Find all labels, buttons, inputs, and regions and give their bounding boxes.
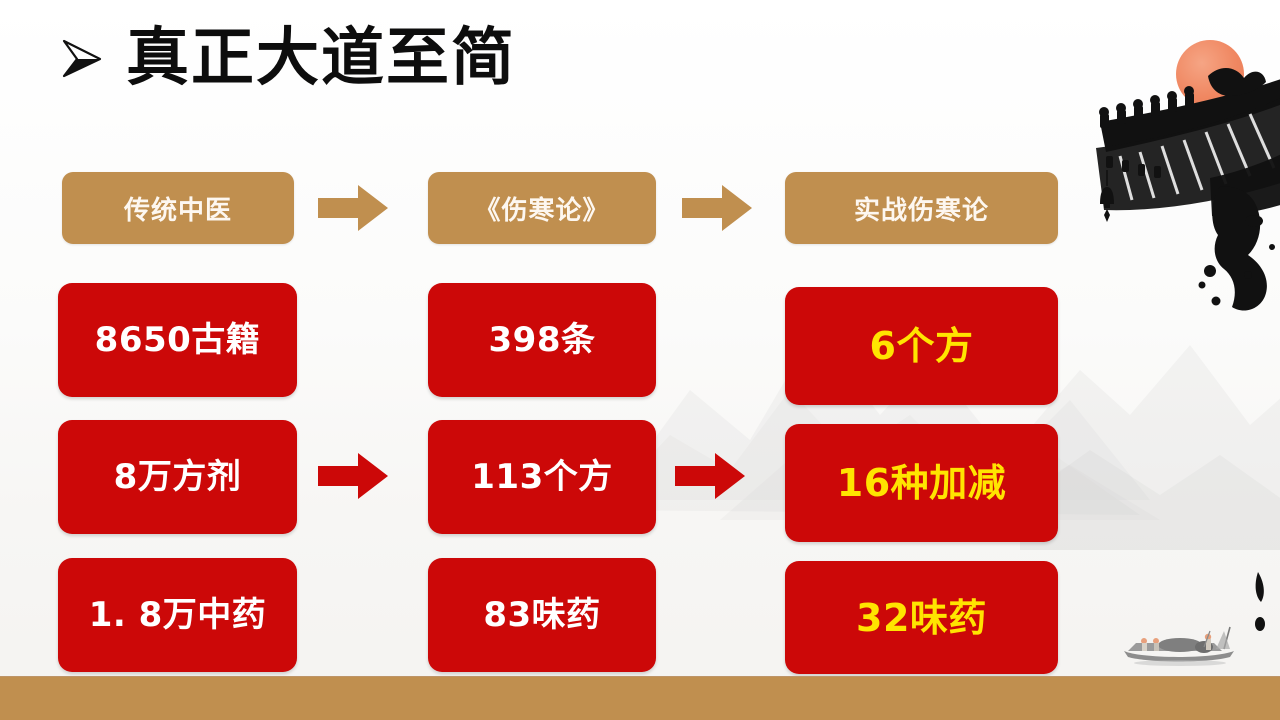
page-title: 真正大道至简 xyxy=(126,26,516,89)
header-box-practical[interactable]: 实战伤寒论 xyxy=(785,172,1058,244)
tan-arrow-2-icon xyxy=(682,185,752,231)
cell-col1-row2[interactable]: 8万方剂 xyxy=(58,420,297,534)
ink-splatter-icon xyxy=(1190,185,1280,315)
tan-arrow-1-icon xyxy=(318,185,388,231)
slide-canvas: 真正大道至简 传统中医 《伤寒论》 实战伤寒论 8650古籍 8万方剂 1. 8… xyxy=(0,0,1280,720)
chinese-roof-eave-icon xyxy=(1060,60,1280,270)
arrow-bullet-icon xyxy=(58,35,104,81)
bottom-accent-bar xyxy=(0,676,1280,720)
cell-col2-row3[interactable]: 83味药 xyxy=(428,558,656,672)
red-arrow-2-icon xyxy=(675,453,745,499)
cell-col3-row2[interactable]: 16种加减 xyxy=(785,424,1058,542)
sun-icon xyxy=(1176,40,1244,108)
ink-drip-icon xyxy=(1246,572,1276,642)
cell-col3-row1[interactable]: 6个方 xyxy=(785,287,1058,405)
hanging-bell-icon xyxy=(1096,170,1118,224)
river-boat-icon xyxy=(1118,625,1244,667)
ink-mountains-right-icon xyxy=(1020,250,1280,550)
cell-col1-row3[interactable]: 1. 8万中药 xyxy=(58,558,297,672)
red-arrow-1-icon xyxy=(318,453,388,499)
cell-col2-row2[interactable]: 113个方 xyxy=(428,420,656,534)
header-box-shanghanlun[interactable]: 《伤寒论》 xyxy=(428,172,656,244)
slide-title-row: 真正大道至简 xyxy=(58,26,516,89)
header-box-traditional[interactable]: 传统中医 xyxy=(62,172,294,244)
cell-col3-row3[interactable]: 32味药 xyxy=(785,561,1058,674)
cell-col2-row1[interactable]: 398条 xyxy=(428,283,656,397)
cell-col1-row1[interactable]: 8650古籍 xyxy=(58,283,297,397)
